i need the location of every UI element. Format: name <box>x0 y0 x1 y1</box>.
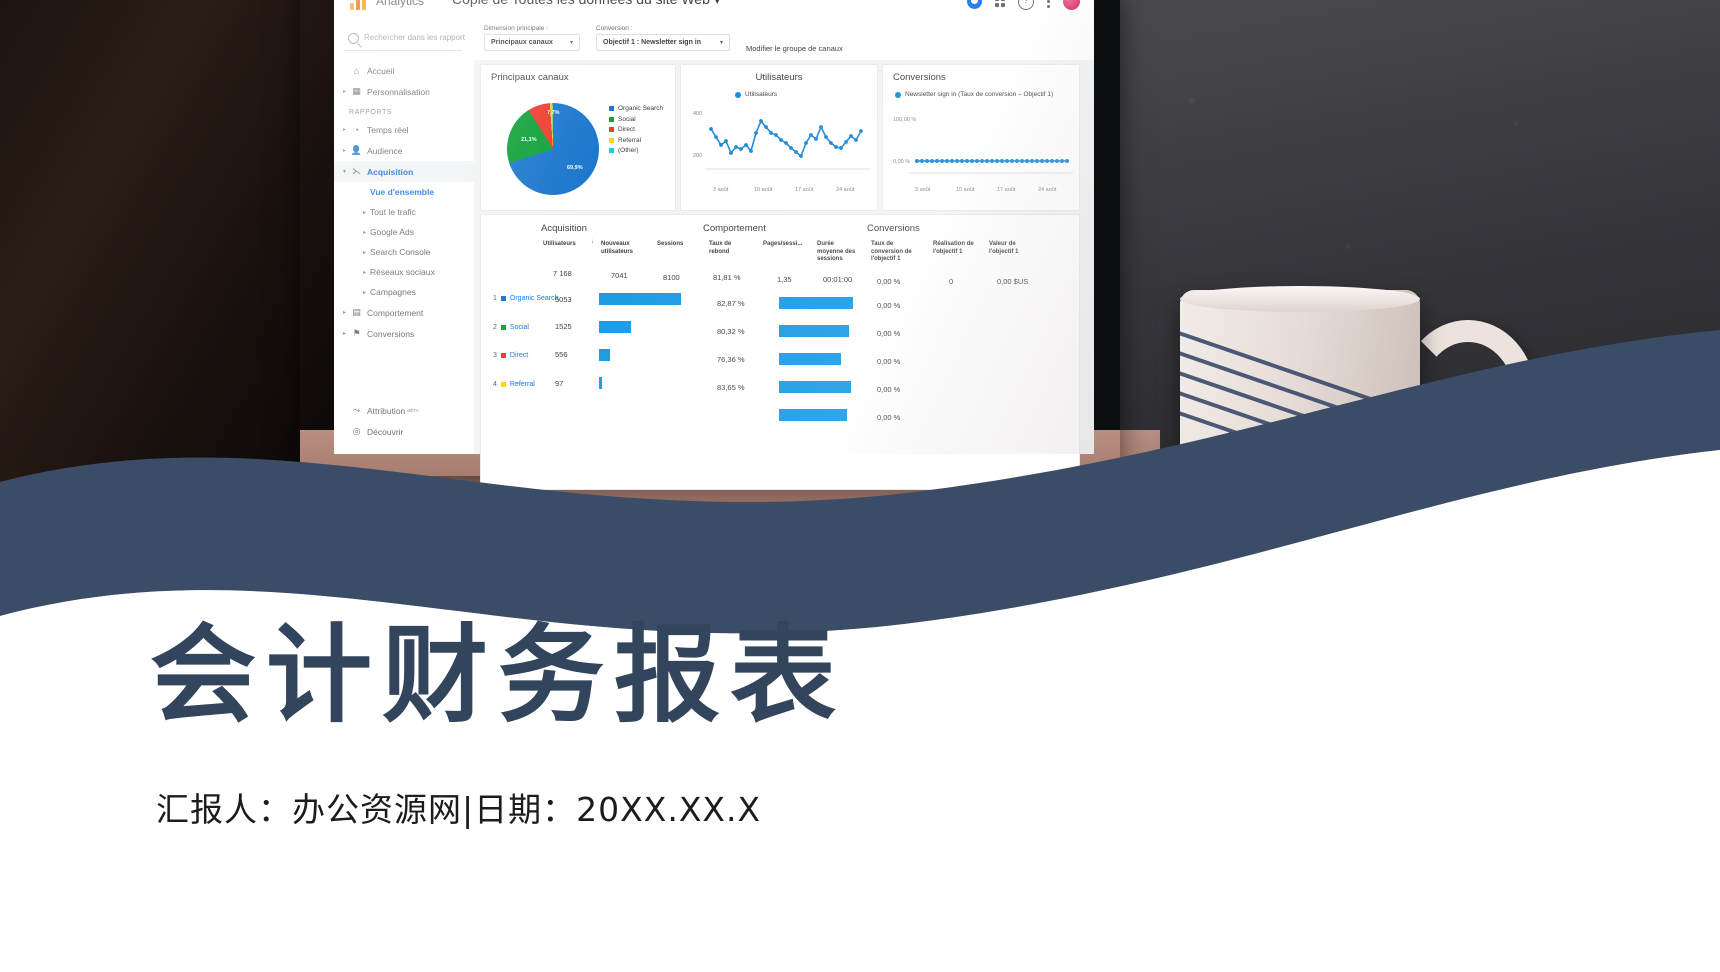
sidebar-subitem-reseaux-sociaux[interactable]: ▸ Réseaux sociaux <box>334 262 474 282</box>
row-bar-pages <box>779 297 853 309</box>
analytics-brand-label: Analytics <box>376 0 424 8</box>
table-group-acquisition: Acquisition <box>541 223 587 234</box>
chevron-right-icon: ▸ <box>363 269 370 276</box>
sidebar-subitem-vue-densemble[interactable]: Vue d'ensemble <box>334 182 474 202</box>
conversions-chart-card: Conversions Newsletter sign in (Taux de … <box>882 64 1080 211</box>
column-header-valeur-objectif[interactable]: Valeur de l'objectif 1 <box>989 241 1031 256</box>
x-tick-4: 24 août <box>1038 187 1056 193</box>
pie-slice-label-social: 21,1% <box>521 137 537 143</box>
property-name: Copie de Toutes les données du site Web <box>452 0 710 7</box>
chevron-right-icon: ▸ <box>363 249 370 256</box>
legend-item: Referral <box>609 137 663 144</box>
total-utilisateurs: 7 168 <box>553 269 572 278</box>
search-input[interactable]: Rechercher dans les rapport <box>344 30 462 51</box>
presentation-cover-slide: Analytics Copie de Toutes les données du… <box>0 0 1720 972</box>
row-users: 5053 <box>555 295 572 304</box>
sidebar-item-audience[interactable]: ▸ 👤 Audience <box>334 140 474 161</box>
x-tick-1: 3 août <box>713 187 728 193</box>
conversion-control: Conversion : Objectif 1 : Newsletter sig… <box>596 25 730 51</box>
sidebar-item-label: Audience <box>364 146 402 156</box>
acquisition-icon: ⋋ <box>349 166 364 177</box>
sidebar-subitem-tout-le-trafic[interactable]: ▸ Tout le trafic <box>334 202 474 222</box>
user-avatar[interactable] <box>1063 0 1080 10</box>
legend-item: Utilisateurs <box>735 91 777 98</box>
legend-label: Utilisateurs <box>745 91 777 98</box>
sidebar-subitem-label: Vue d'ensemble <box>370 187 434 197</box>
sidebar-subitem-google-ads[interactable]: ▸ Google Ads <box>334 222 474 242</box>
legend-item: Organic Search <box>609 105 663 112</box>
pie-slice-label-organic: 69,9% <box>567 165 583 171</box>
sidebar-subitem-label: Tout le trafic <box>370 207 416 217</box>
sort-arrow-icon[interactable]: ↓ <box>591 239 594 247</box>
row-channel-label: Organic Search <box>510 295 559 302</box>
total-taux-conversion: 0,00 % <box>877 277 900 286</box>
legend-item: Direct <box>609 126 663 133</box>
legend-label: Newsletter sign in (Taux de conversion –… <box>905 91 1053 98</box>
sidebar-item-personnalisation[interactable]: ▸ ▦ Personnalisation <box>334 81 474 102</box>
sidebar-subitem-label: Campagnes <box>370 287 416 297</box>
legend-item: Social <box>609 116 663 123</box>
dimension-select[interactable]: Principaux canaux ▾ <box>484 34 580 51</box>
topbar-icon-group: ? <box>967 0 1080 10</box>
users-line-chart <box>681 107 877 177</box>
conversion-label: Conversion : <box>596 25 730 32</box>
notifications-bell-icon[interactable] <box>967 0 982 9</box>
pie-chart-legend: Organic Search Social Direct Referral (O… <box>609 105 663 158</box>
sidebar-subitem-label: Google Ads <box>370 227 414 237</box>
column-header-realisation-objectif[interactable]: Réalisation de l'objectif 1 <box>933 241 977 256</box>
chevron-down-icon: ▾ <box>714 0 721 7</box>
row-conversion: 0,00 % <box>877 301 900 310</box>
help-icon[interactable]: ? <box>1018 0 1034 10</box>
sidebar-section-label: RAPPORTS <box>334 102 474 119</box>
sidebar-item-label: Acquisition <box>364 167 413 177</box>
total-valeur: 0,00 $US <box>997 277 1028 286</box>
x-tick-3: 17 août <box>997 187 1015 193</box>
conversions-chart-legend: Newsletter sign in (Taux de conversion –… <box>895 91 1067 102</box>
legend-label: (Other) <box>618 147 639 154</box>
sidebar-item-label: Personnalisation <box>364 87 430 97</box>
column-header-duree-moyenne[interactable]: Durée moyenne des sessions <box>817 241 861 264</box>
total-taux-rebond: 81,81 % <box>713 273 741 282</box>
table-group-comportement: Comportement <box>703 223 766 234</box>
table-group-conversions: Conversions <box>867 223 920 234</box>
chevron-right-icon: ▸ <box>363 289 370 296</box>
mug-rim <box>1180 286 1420 312</box>
x-tick-3: 17 août <box>795 187 813 193</box>
column-header-nouveaux-utilisateurs[interactable]: Nouveaux utilisateurs <box>601 241 641 256</box>
pie-slice-label-direct: 7,7% <box>547 110 560 116</box>
clock-icon: ◔ <box>349 125 364 135</box>
x-tick-2: 10 août <box>956 187 974 193</box>
sidebar-nav: ⌂ Accueil ▸ ▦ Personnalisation RAPPORTS … <box>334 60 474 344</box>
sidebar-item-temps-reel[interactable]: ▸ ◔ Temps réel <box>334 119 474 140</box>
legend-label: Direct <box>618 126 635 133</box>
sidebar-item-label: Comportement <box>364 308 423 318</box>
dimension-control: Dimension principale : Principaux canaux… <box>484 25 580 51</box>
legend-item: Newsletter sign in (Taux de conversion –… <box>895 91 1067 98</box>
table-row[interactable]: 1 Organic Search <box>493 295 559 302</box>
sidebar-item-label: Accueil <box>364 66 394 76</box>
analytics-logo-icon <box>350 0 368 10</box>
total-realisation: 0 <box>949 277 953 286</box>
sidebar-subitem-label: Réseaux sociaux <box>370 267 435 277</box>
x-tick-1: 3 août <box>915 187 930 193</box>
legend-label: Referral <box>618 137 641 144</box>
column-header-pages-session[interactable]: Pages/sessi... <box>763 241 805 249</box>
total-duree-moyenne: 00:01:00 <box>823 275 852 284</box>
report-controls-bar: Dimension principale : Principaux canaux… <box>474 20 1094 60</box>
column-header-sessions[interactable]: Sessions <box>657 241 693 249</box>
dimension-value: Principaux canaux <box>491 39 562 46</box>
search-icon <box>348 33 359 44</box>
more-options-icon[interactable] <box>1047 0 1050 8</box>
chevron-down-icon: ▾ <box>570 39 573 46</box>
legend-item: (Other) <box>609 147 663 154</box>
edit-channel-group-link[interactable]: Modifier le groupe de canaux <box>746 44 843 53</box>
apps-grid-icon[interactable] <box>995 0 1005 7</box>
sidebar-item-accueil[interactable]: ⌂ Accueil <box>334 60 474 81</box>
conversions-line-chart <box>883 111 1079 181</box>
users-chart-card: Utilisateurs Utilisateurs 400 200 <box>680 64 878 211</box>
users-chart-title: Utilisateurs <box>681 65 877 83</box>
sidebar-subitem-label: Search Console <box>370 247 430 257</box>
row-bounce: 82,87 % <box>717 299 745 308</box>
conversions-chart-title: Conversions <box>883 65 1079 83</box>
total-sessions: 8100 <box>663 273 680 282</box>
conversion-value: Objectif 1 : Newsletter sign in <box>603 39 712 46</box>
property-selector[interactable]: Copie de Toutes les données du site Web … <box>452 0 721 8</box>
legend-label: Social <box>618 116 636 123</box>
search-placeholder: Rechercher dans les rapport <box>364 33 465 42</box>
pie-chart-card: Principaux canaux 69,9% 21,1% 7,7% Organ… <box>480 64 676 211</box>
column-header-utilisateurs[interactable]: Utilisateurs <box>543 241 587 249</box>
behavior-icon: ▤ <box>349 307 364 318</box>
total-pages-session: 1,35 <box>777 275 792 284</box>
chevron-right-icon: ▸ <box>363 209 370 216</box>
ga-topbar: Analytics Copie de Toutes les données du… <box>334 0 1094 21</box>
chevron-down-icon: ▾ <box>720 39 723 46</box>
presentation-subtitle: 汇报人：办公资源网|日期：20XX.XX.X <box>156 783 846 831</box>
page-title: 会计财务报表 <box>150 620 846 731</box>
x-tick-2: 10 août <box>754 187 772 193</box>
row-bar-users <box>599 293 681 305</box>
conversion-select[interactable]: Objectif 1 : Newsletter sign in ▾ <box>596 34 730 51</box>
chevron-right-icon: ▸ <box>363 229 370 236</box>
users-chart-legend: Utilisateurs <box>735 91 777 102</box>
sidebar-subitem-campagnes[interactable]: ▸ Campagnes <box>334 282 474 302</box>
sidebar-subitem-search-console[interactable]: ▸ Search Console <box>334 242 474 262</box>
customization-icon: ▦ <box>349 86 364 97</box>
row-rank: 1 <box>493 295 497 302</box>
sidebar-item-label: Temps réel <box>364 125 409 135</box>
column-header-taux-de-rebond[interactable]: Taux de rebond <box>709 241 743 256</box>
title-block: 会计财务报表 汇报人：办公资源网|日期：20XX.XX.X <box>150 620 846 831</box>
legend-label: Organic Search <box>618 105 663 112</box>
total-nouveaux-utilisateurs: 7041 <box>611 271 628 280</box>
column-header-taux-conversion[interactable]: Taux de conversion de l'objectif 1 <box>871 241 919 264</box>
channels-pie-chart <box>507 103 599 195</box>
home-icon: ⌂ <box>349 66 364 76</box>
pie-chart-title: Principaux canaux <box>481 65 675 83</box>
audience-icon: 👤 <box>349 145 364 156</box>
x-tick-4: 24 août <box>836 187 854 193</box>
sidebar-item-acquisition[interactable]: ▾ ⋋ Acquisition <box>334 161 474 182</box>
dimension-label: Dimension principale : <box>484 25 580 32</box>
sidebar-item-comportement[interactable]: ▸ ▤ Comportement <box>334 302 474 323</box>
